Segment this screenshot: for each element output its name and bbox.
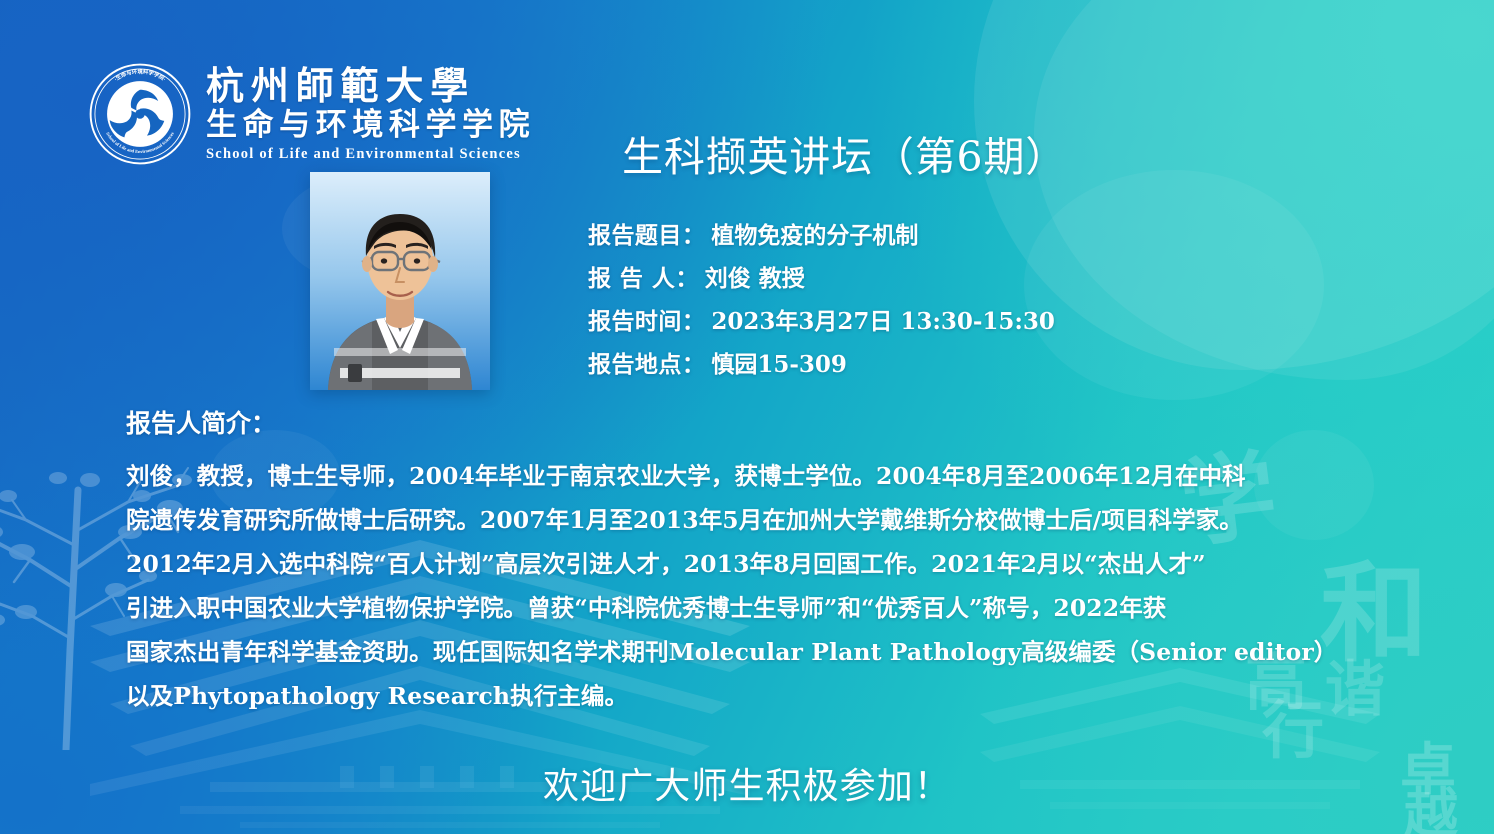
info-value-topic: 植物免疫的分子机制: [711, 216, 918, 250]
info-label-time: 报告时间：: [588, 302, 705, 336]
decorative-blob-medium: [1034, 0, 1494, 380]
info-value-location: 慎园15-309: [711, 345, 847, 379]
decorative-blob-small: [1024, 170, 1324, 400]
bio-line: 院遗传发育研究所做博士后研究。2007年1月至2013年5月在加州大学戴维斯分校…: [126, 498, 1396, 542]
bio-line: 国家杰出青年科学基金资助。现任国际知名学术期刊Molecular Plant P…: [126, 630, 1396, 674]
seminar-info-block: 报告题目： 植物免疫的分子机制 报 告 人： 刘俊 教授 报告时间： 2023年…: [588, 216, 1055, 388]
info-row-speaker: 报 告 人： 刘俊 教授: [588, 259, 1055, 293]
info-row-topic: 报告题目： 植物免疫的分子机制: [588, 216, 1055, 250]
bio-line: 刘俊，教授，博士生导师，2004年毕业于南京农业大学，获博士学位。2004年8月…: [126, 454, 1396, 498]
info-value-speaker: 刘俊 教授: [705, 259, 805, 293]
info-value-time: 2023年3月27日 13:30-15:30: [711, 302, 1055, 336]
seminar-poster: 学 和 谐 高 行 卓 越 ·生命与环境科学学院· School of Life…: [0, 0, 1494, 834]
svg-text:·生命与环境科学学院·: ·生命与环境科学学院·: [113, 67, 166, 83]
speaker-bio-block: 报告人简介： 刘俊，教授，博士生导师，2004年毕业于南京农业大学，获博士学位。…: [126, 404, 1396, 718]
page-title: 生科撷英讲坛（第6期）: [622, 123, 1067, 183]
bio-heading: 报告人简介：: [126, 404, 1396, 440]
bio-line: 引进入职中国农业大学植物保护学院。曾获“中科院优秀博士生导师”和“优秀百人”称号…: [126, 586, 1396, 630]
logo-name-cn-line1: 杭州師範大學: [206, 65, 535, 106]
bio-line: 以及Phytopathology Research执行主编。: [126, 674, 1396, 718]
info-row-location: 报告地点： 慎园15-309: [588, 345, 1055, 379]
university-emblem-icon: ·生命与环境科学学院· School of Life and Environme…: [88, 62, 192, 166]
info-row-time: 报告时间： 2023年3月27日 13:30-15:30: [588, 302, 1055, 336]
university-logo: ·生命与环境科学学院· School of Life and Environme…: [88, 62, 535, 166]
info-label-topic: 报告题目：: [588, 216, 705, 250]
logo-name-en: School of Life and Environmental Science…: [206, 146, 535, 163]
portrait-illustration-icon: [310, 172, 490, 390]
logo-name-cn-line2: 生命与环境科学学院: [206, 108, 535, 143]
info-label-speaker: 报 告 人：: [588, 259, 699, 293]
bio-line: 2012年2月入选中科院“百人计划”高层次引进人才，2013年8月回国工作。20…: [126, 542, 1396, 586]
welcome-message: 欢迎广大师生积极参加！: [0, 757, 1494, 809]
info-label-location: 报告地点：: [588, 345, 705, 379]
speaker-portrait-photo: [310, 172, 490, 390]
